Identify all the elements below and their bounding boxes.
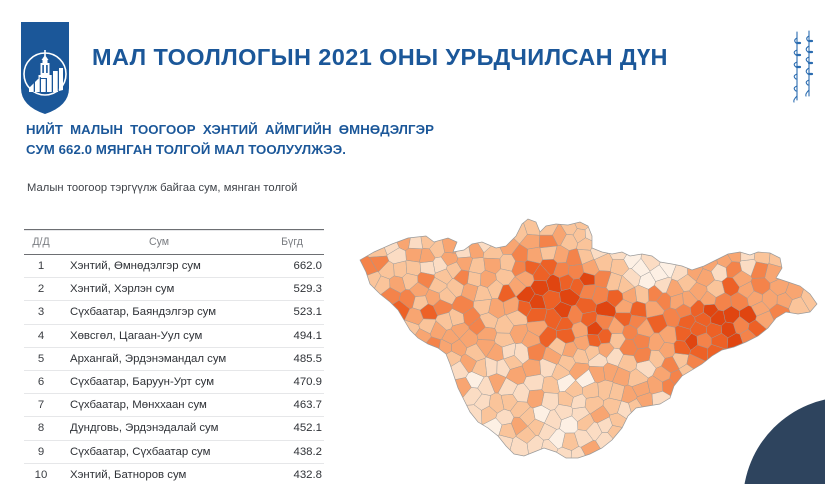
row-value: 494.1 xyxy=(260,324,324,347)
row-value: 432.8 xyxy=(260,463,324,484)
row-value: 529.3 xyxy=(260,278,324,301)
soum-polygon[interactable] xyxy=(441,208,465,253)
page-title: МАЛ ТООЛЛОГЫН 2021 ОНЫ УРЬДЧИЛСАН ДҮН xyxy=(92,44,668,71)
soum-polygon[interactable] xyxy=(748,320,822,397)
row-index: 7 xyxy=(24,394,58,417)
table-row[interactable]: 2 Хэнтий, Хэрлэн сум 529.3 xyxy=(24,278,324,301)
soum-polygon[interactable] xyxy=(330,377,471,472)
column-header-soum: Сум xyxy=(58,231,260,255)
row-soum: Сүхбаатар, Сүхбаатар сум xyxy=(58,440,260,463)
soum-polygon[interactable] xyxy=(346,337,441,440)
table-row[interactable]: 6 Сүхбаатар, Баруун-Урт сум 470.9 xyxy=(24,370,324,393)
row-value: 452.1 xyxy=(260,417,324,440)
soum-polygon[interactable] xyxy=(608,425,717,484)
row-soum: Архангай, Эрдэнэмандал сум xyxy=(58,347,260,370)
soum-polygon[interactable] xyxy=(355,328,431,426)
row-index: 1 xyxy=(24,255,58,278)
slide-root: МАЛ ТООЛЛОГЫН 2021 ОНЫ УРЬДЧИЛСАН ДҮН xyxy=(0,0,825,484)
row-index: 3 xyxy=(24,301,58,324)
map-canvas xyxy=(330,208,825,484)
soum-polygon[interactable] xyxy=(481,208,527,244)
soum-polygon[interactable] xyxy=(527,436,544,484)
row-soum: Хэнтий, Батноров сум xyxy=(58,463,260,484)
slide-header: МАЛ ТООЛЛОГЫН 2021 ОНЫ УРЬДЧИЛСАН ДҮН xyxy=(0,0,825,115)
table-row[interactable]: 8 Дундговь, Эрдэнэдалай сум 452.1 xyxy=(24,417,324,440)
table-row[interactable]: 5 Архангай, Эрдэнэмандал сум 485.5 xyxy=(24,347,324,370)
row-index: 8 xyxy=(24,417,58,440)
table-caption: Малын тоогоор тэргүүлж байгаа сум, мянга… xyxy=(27,182,447,194)
column-header-no: Д/Д xyxy=(24,231,58,255)
soum-polygon[interactable] xyxy=(689,208,741,262)
row-value: 485.5 xyxy=(260,347,324,370)
row-value: 662.0 xyxy=(260,255,324,278)
row-index: 6 xyxy=(24,370,58,393)
soum-polygon[interactable] xyxy=(670,369,708,419)
table-row[interactable]: 10 Хэнтий, Батноров сум 432.8 xyxy=(24,463,324,484)
row-soum: Хэнтий, Хэрлэн сум xyxy=(58,278,260,301)
row-soum: Сүхбаатар, Баяндэлгэр сум xyxy=(58,301,260,324)
soum-polygon[interactable] xyxy=(330,272,381,382)
mongolia-soum-choropleth-map[interactable] xyxy=(330,208,825,484)
row-value: 438.2 xyxy=(260,440,324,463)
table-row[interactable]: 3 Сүхбаатар, Баяндэлгэр сум 523.1 xyxy=(24,301,324,324)
soum-polygon[interactable] xyxy=(456,227,471,258)
soum-polygon[interactable] xyxy=(333,288,401,343)
column-header-total: Бүгд xyxy=(260,231,324,255)
soum-polygon[interactable] xyxy=(330,405,482,484)
table-row[interactable]: 9 Сүхбаатар, Сүхбаатар сум 438.2 xyxy=(24,440,324,463)
row-soum: Сүхбаатар, Мөнххаан сум xyxy=(58,394,260,417)
soum-polygon[interactable] xyxy=(641,208,683,271)
mongolian-vertical-script-icon xyxy=(786,26,820,108)
soum-polygon[interactable] xyxy=(354,208,399,255)
national-statistics-office-logo xyxy=(21,22,69,114)
soum-polygon[interactable] xyxy=(528,447,571,484)
soum-polygon[interactable] xyxy=(585,208,655,242)
soum-polygon[interactable] xyxy=(637,393,655,426)
soum-polygon[interactable] xyxy=(609,208,661,259)
soum-polygon[interactable] xyxy=(727,333,777,444)
lead-statement: НИЙТ МАЛЫН ТООГООР ХЭНТИЙ АЙМГИЙН ӨМНӨДЭ… xyxy=(26,120,434,159)
table-row[interactable]: 4 Хөвсгөл, Цагаан-Уул сум 494.1 xyxy=(24,324,324,347)
row-index: 2 xyxy=(24,278,58,301)
soum-polygon[interactable] xyxy=(491,436,533,484)
soum-polygon[interactable] xyxy=(393,435,513,484)
soum-polygon[interactable] xyxy=(330,320,420,484)
soum-polygon[interactable] xyxy=(769,208,825,271)
top-soums-table: Д/Д Сум Бүгд 1 Хэнтий, Өмнөдэлгэр сум 66… xyxy=(24,229,324,484)
row-soum: Хэнтий, Өмнөдэлгэр сум xyxy=(58,255,260,278)
soum-polygon[interactable] xyxy=(630,301,646,317)
row-value: 470.9 xyxy=(260,370,324,393)
table-row[interactable]: 1 Хэнтий, Өмнөдэлгэр сум 662.0 xyxy=(24,255,324,278)
row-soum: Сүхбаатар, Баруун-Урт сум xyxy=(58,370,260,393)
table-row[interactable]: 7 Сүхбаатар, Мөнххаан сум 463.7 xyxy=(24,394,324,417)
row-value: 463.7 xyxy=(260,394,324,417)
soum-polygon[interactable] xyxy=(409,208,423,249)
row-value: 523.1 xyxy=(260,301,324,324)
soum-polygon[interactable] xyxy=(596,432,687,484)
soum-polygon[interactable] xyxy=(330,300,410,386)
soum-polygon[interactable] xyxy=(671,239,688,281)
soum-polygon[interactable] xyxy=(581,440,647,484)
soum-polygon[interactable] xyxy=(406,248,423,262)
soum-polygons xyxy=(330,208,825,484)
table-header-row: Д/Д Сум Бүгд xyxy=(24,231,324,255)
row-index: 9 xyxy=(24,440,58,463)
row-soum: Хөвсгөл, Цагаан-Уул сум xyxy=(58,324,260,347)
row-index: 5 xyxy=(24,347,58,370)
row-soum: Дундговь, Эрдэнэдалай сум xyxy=(58,417,260,440)
row-index: 4 xyxy=(24,324,58,347)
row-index: 10 xyxy=(24,463,58,484)
